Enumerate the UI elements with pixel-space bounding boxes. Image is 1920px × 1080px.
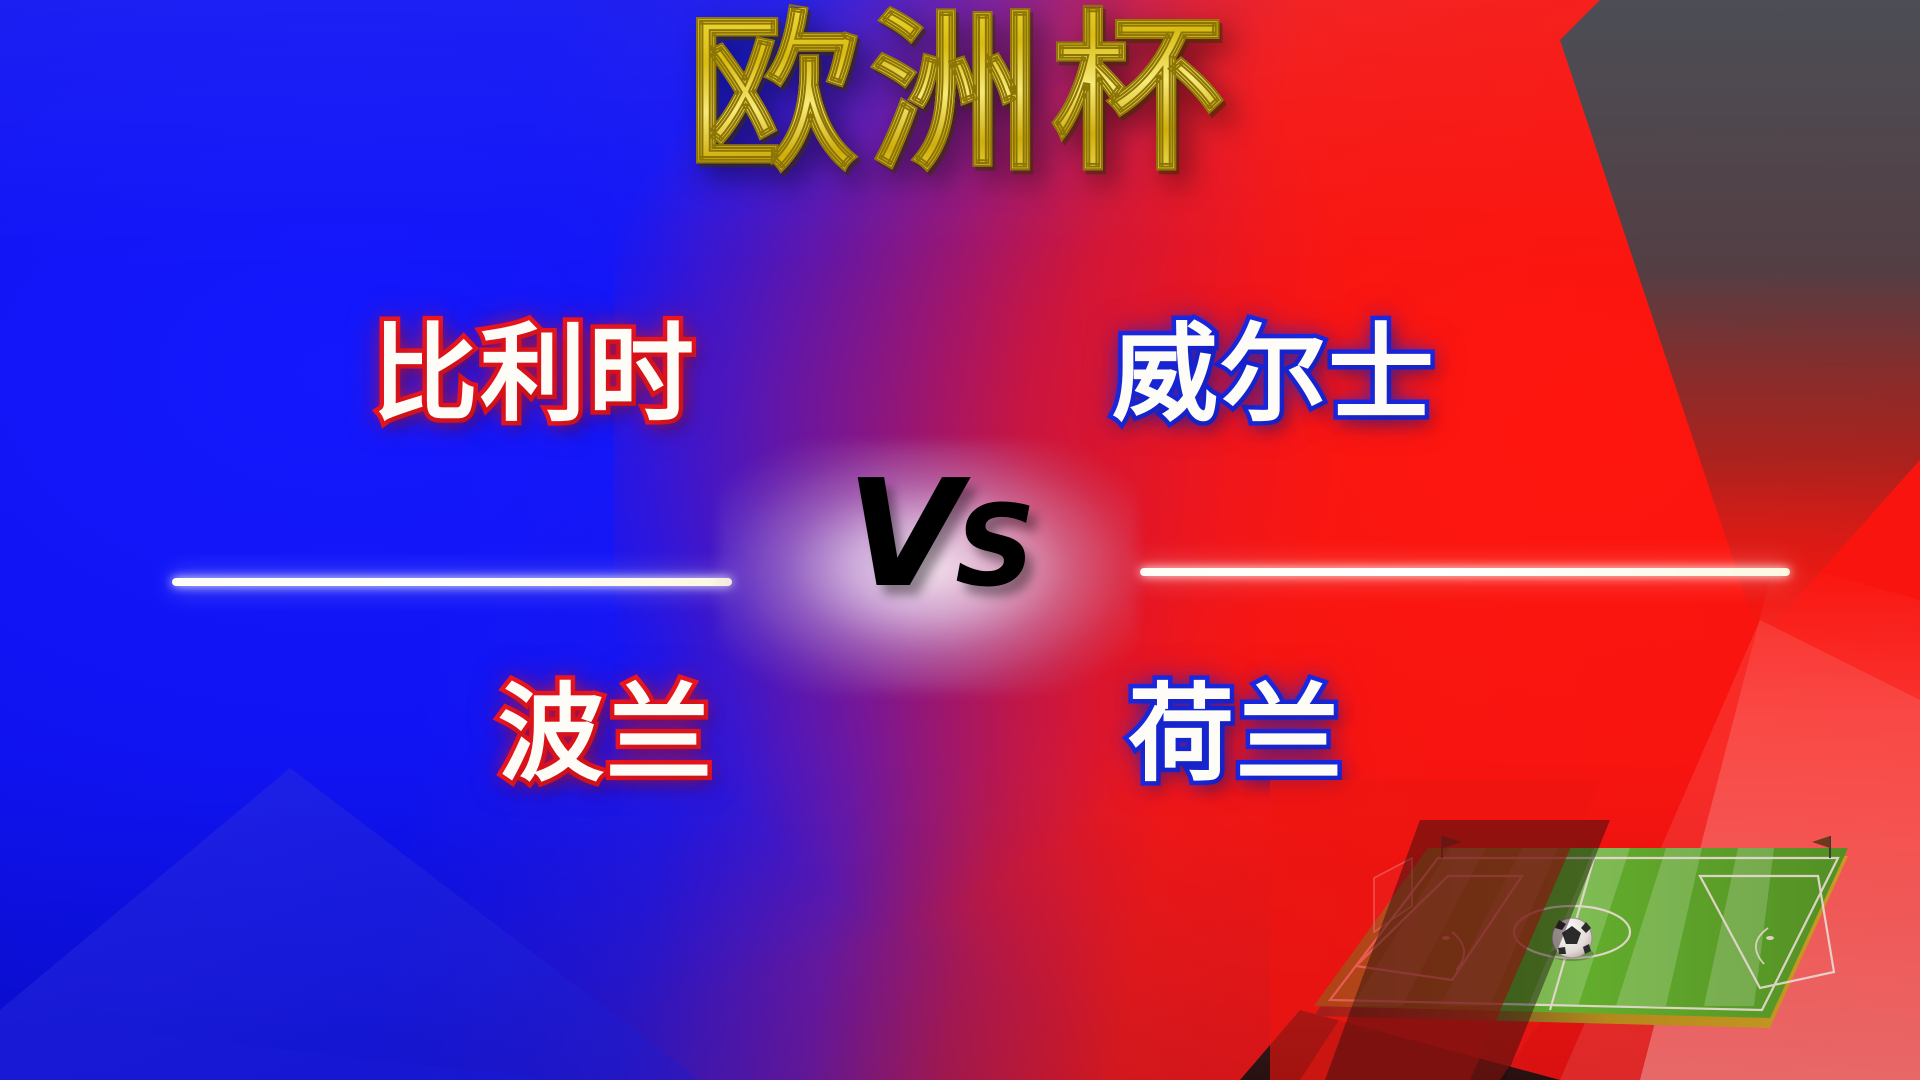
vs-letter-v: V: [846, 448, 955, 620]
team-name-bottom-left: 波兰: [498, 682, 714, 788]
page-title: 欧洲杯: [0, 8, 1920, 180]
vs-label: VS: [808, 460, 1068, 608]
team-name-top-left: 比利时: [372, 322, 696, 428]
divider-line-right: [1140, 568, 1790, 576]
divider-line-left: [172, 578, 732, 586]
soccer-pitch-graphic: [1300, 820, 1860, 1060]
team-name-bottom-right: 荷兰: [1128, 682, 1344, 788]
team-name-top-right: 威尔士: [1112, 322, 1436, 428]
vs-letter-s: S: [955, 482, 1030, 612]
poster-canvas: 欧洲杯 比利时 威尔士 波兰 荷兰 VS: [0, 0, 1920, 1080]
